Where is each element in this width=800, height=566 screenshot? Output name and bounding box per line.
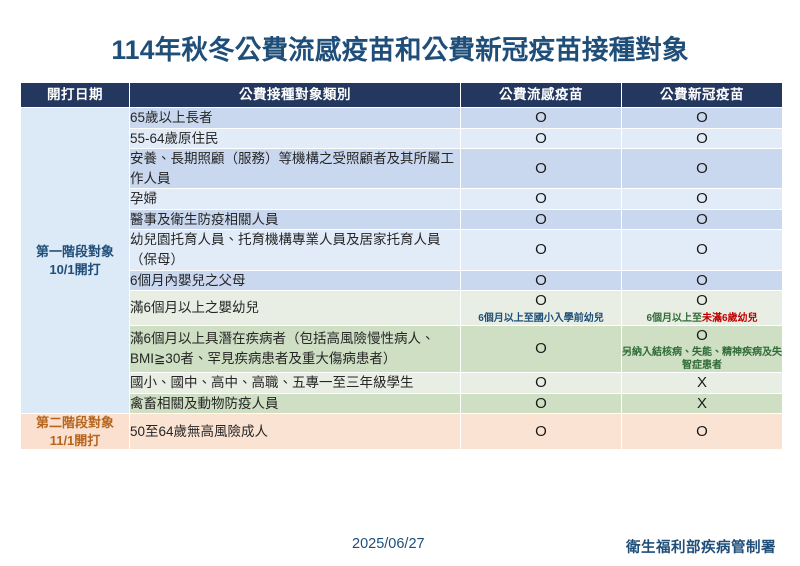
mark-glyph: O xyxy=(622,326,782,346)
footer-agency: 衛生福利部疾病管制署 xyxy=(626,536,776,557)
flu-mark-cell: O xyxy=(461,108,621,128)
mark-glyph: O xyxy=(622,108,782,128)
covid-mark-cell: O xyxy=(622,189,782,209)
flu-mark-cell: O xyxy=(461,394,621,414)
mark-glyph: O xyxy=(622,240,782,260)
mark-glyph: O xyxy=(461,339,621,359)
mark-glyph: O xyxy=(461,240,621,260)
table-row: 滿6個月以上具潛在疾病者（包括高風險慢性病人、BMI≧30者、罕見疾病患者及重大… xyxy=(21,326,782,373)
covid-subnote: 6個月以上至未滿6歲幼兒 xyxy=(622,312,782,325)
covid-mark-cell: O xyxy=(622,271,782,291)
column-header-date: 開打日期 xyxy=(21,83,129,107)
mark-glyph: O xyxy=(622,210,782,230)
vaccination-table: 開打日期 公費接種對象類別 公費流感疫苗 公費新冠疫苗 第一階段對象 10/1開… xyxy=(20,82,783,450)
footer: 2025/06/27 衛生福利部疾病管制署 xyxy=(0,536,800,560)
mark-glyph: O xyxy=(461,189,621,209)
mark-glyph: O xyxy=(622,159,782,179)
mark-glyph: O xyxy=(461,129,621,149)
covid-mark-cell: O xyxy=(622,414,782,449)
flu-mark-cell: O xyxy=(461,414,621,449)
mark-glyph: X xyxy=(622,394,782,414)
phase-label-line2: 11/1開打 xyxy=(21,432,129,450)
column-header-covid: 公費新冠疫苗 xyxy=(622,83,782,107)
category-cell: 孕婦 xyxy=(130,189,460,209)
phase-label-line1: 第二階段對象 xyxy=(21,414,129,432)
covid-mark-cell: O xyxy=(622,129,782,149)
covid-mark-cell: O xyxy=(622,108,782,128)
category-cell: 安養、長期照顧（服務）等機構之受照顧者及其所屬工作人員 xyxy=(130,149,460,188)
category-cell: 滿6個月以上具潛在疾病者（包括高風險慢性病人、BMI≧30者、罕見疾病患者及重大… xyxy=(130,326,460,373)
category-cell: 滿6個月以上之嬰幼兒 xyxy=(130,291,460,325)
mark-glyph: O xyxy=(461,422,621,442)
covid-mark-cell: O xyxy=(622,149,782,188)
mark-glyph: O xyxy=(461,108,621,128)
table-row: 安養、長期照顧（服務）等機構之受照顧者及其所屬工作人員 O O xyxy=(21,149,782,188)
category-cell: 禽畜相關及動物防疫人員 xyxy=(130,394,460,414)
category-cell: 6個月內嬰兒之父母 xyxy=(130,271,460,291)
category-cell: 國小、國中、高中、高職、五專一至三年級學生 xyxy=(130,373,460,393)
mark-glyph: O xyxy=(461,291,621,311)
phase-cell-first: 第一階段對象 10/1開打 xyxy=(21,108,129,413)
flu-mark-cell: O xyxy=(461,129,621,149)
flu-mark-cell: O xyxy=(461,373,621,393)
category-cell: 醫事及衛生防疫相關人員 xyxy=(130,210,460,230)
flu-mark-cell: O xyxy=(461,230,621,269)
mark-glyph: O xyxy=(622,129,782,149)
covid-subnote-highlight: 未滿6歲幼兒 xyxy=(702,313,758,324)
covid-mark-cell: O 6個月以上至未滿6歲幼兒 xyxy=(622,291,782,325)
mark-glyph: O xyxy=(461,373,621,393)
flu-mark-cell: O xyxy=(461,210,621,230)
flu-subnote: 6個月以上至國小入學前幼兒 xyxy=(461,312,621,325)
flu-mark-cell: O xyxy=(461,326,621,373)
table-row: 醫事及衛生防疫相關人員 O O xyxy=(21,210,782,230)
covid-mark-cell: O 另納入結核病、失能、精神疾病及失智症患者 xyxy=(622,326,782,373)
category-cell: 幼兒園托育人員、托育機構專業人員及居家托育人員（保母） xyxy=(130,230,460,269)
covid-subnote: 另納入結核病、失能、精神疾病及失智症患者 xyxy=(622,346,782,372)
table-header-row: 開打日期 公費接種對象類別 公費流感疫苗 公費新冠疫苗 xyxy=(21,83,782,107)
covid-mark-cell: X xyxy=(622,394,782,414)
column-header-flu: 公費流感疫苗 xyxy=(461,83,621,107)
table-row: 禽畜相關及動物防疫人員 O X xyxy=(21,394,782,414)
flu-mark-cell: O xyxy=(461,271,621,291)
flu-mark-cell: O xyxy=(461,189,621,209)
mark-glyph: O xyxy=(622,422,782,442)
mark-glyph: O xyxy=(461,159,621,179)
column-header-category: 公費接種對象類別 xyxy=(130,83,460,107)
table-row: 第一階段對象 10/1開打 65歲以上長者 O O xyxy=(21,108,782,128)
footer-date: 2025/06/27 xyxy=(352,536,425,552)
table-row: 國小、國中、高中、高職、五專一至三年級學生 O X xyxy=(21,373,782,393)
mark-glyph: O xyxy=(461,271,621,291)
flu-mark-cell: O 6個月以上至國小入學前幼兒 xyxy=(461,291,621,325)
covid-subnote-text: 6個月以上至 xyxy=(646,313,702,324)
phase-label-line2: 10/1開打 xyxy=(21,261,129,279)
mark-glyph: O xyxy=(622,189,782,209)
table-row: 孕婦 O O xyxy=(21,189,782,209)
mark-glyph: O xyxy=(461,394,621,414)
table-row: 幼兒園托育人員、托育機構專業人員及居家托育人員（保母） O O xyxy=(21,230,782,269)
covid-mark-cell: O xyxy=(622,230,782,269)
category-cell: 50至64歲無高風險成人 xyxy=(130,414,460,449)
mark-glyph: O xyxy=(461,210,621,230)
table-body: 第一階段對象 10/1開打 65歲以上長者 O O 55-64歲原住民 O O xyxy=(21,108,782,449)
mark-glyph: O xyxy=(622,291,782,311)
mark-glyph: O xyxy=(622,271,782,291)
page-title: 114年秋冬公費流感疫苗和公費新冠疫苗接種對象 xyxy=(0,28,800,67)
phase-cell-second: 第二階段對象 11/1開打 xyxy=(21,414,129,449)
covid-mark-cell: O xyxy=(622,210,782,230)
table-row: 滿6個月以上之嬰幼兒 O 6個月以上至國小入學前幼兒 O 6個月以上至未滿6歲幼… xyxy=(21,291,782,325)
phase-label-line1: 第一階段對象 xyxy=(21,243,129,261)
vaccination-table-container: 開打日期 公費接種對象類別 公費流感疫苗 公費新冠疫苗 第一階段對象 10/1開… xyxy=(20,82,780,450)
mark-glyph: X xyxy=(622,373,782,393)
table-row: 第二階段對象 11/1開打 50至64歲無高風險成人 O O xyxy=(21,414,782,449)
table-row: 6個月內嬰兒之父母 O O xyxy=(21,271,782,291)
covid-mark-cell: X xyxy=(622,373,782,393)
category-cell: 55-64歲原住民 xyxy=(130,129,460,149)
table-row: 55-64歲原住民 O O xyxy=(21,129,782,149)
category-cell: 65歲以上長者 xyxy=(130,108,460,128)
flu-mark-cell: O xyxy=(461,149,621,188)
